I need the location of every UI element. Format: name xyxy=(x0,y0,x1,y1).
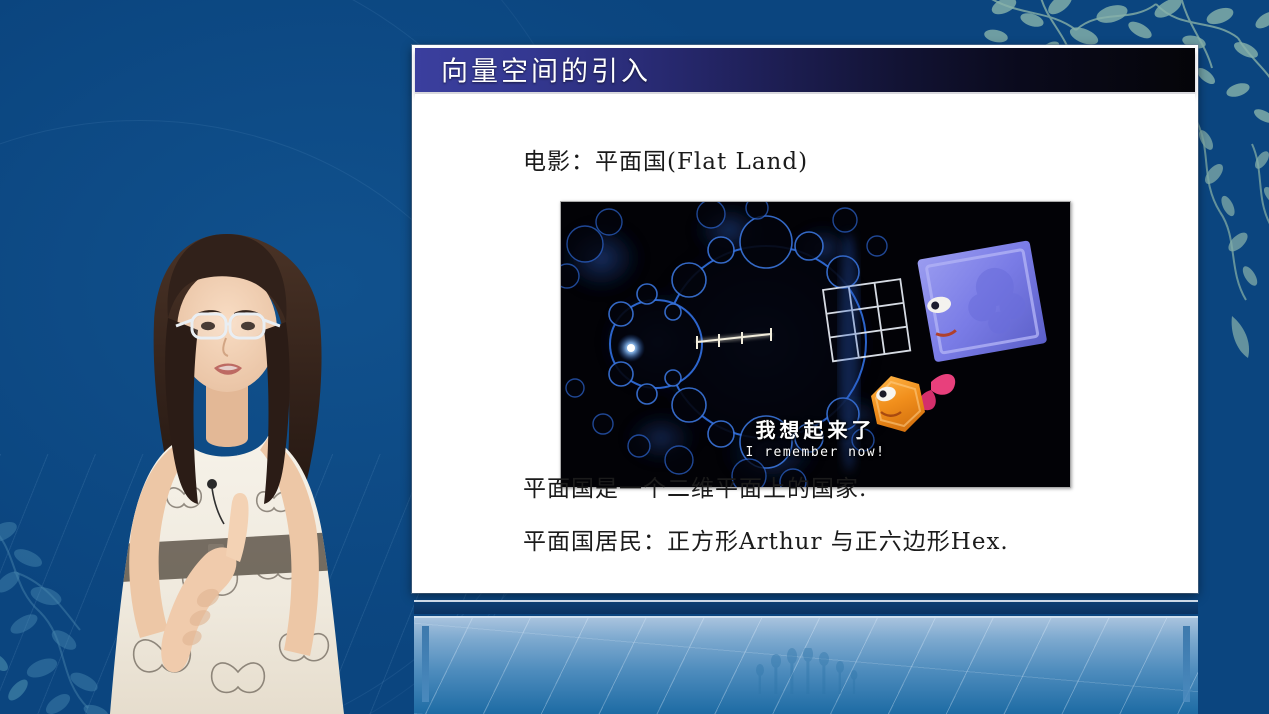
slide-body: 电影：平面国(Flat Land) xyxy=(415,94,1195,588)
slide-text-description-1: 平面国是一个二维平面上的国家. xyxy=(523,469,867,503)
panel-right-accent-bar xyxy=(1183,626,1190,702)
panel-left-accent-bar xyxy=(422,626,429,702)
video-subtitle-chinese: 我想起来了 xyxy=(561,414,1070,443)
slide-presentation-screen: 向量空间的引入 电影：平面国(Flat Land) xyxy=(0,0,1269,714)
lower-panel-strip xyxy=(414,600,1198,614)
slide-text-movie: 电影：平面国(Flat Land) xyxy=(523,142,808,176)
point-land-dot xyxy=(617,334,645,362)
slide-title-bar: 向量空间的引入 xyxy=(415,48,1195,94)
lower-decorative-panel xyxy=(414,616,1198,714)
embedded-video-player[interactable]: 我想起来了 I remember now! xyxy=(560,201,1071,488)
slide-text-description-2: 平面国居民：正方形Arthur 与正六边形Hex. xyxy=(523,522,1009,556)
panel-reed-decoration xyxy=(746,648,866,694)
slide-title: 向量空间的引入 xyxy=(441,50,651,89)
video-subtitle-english: I remember now! xyxy=(561,445,1070,460)
lecture-slide: 向量空间的引入 电影：平面国(Flat Land) xyxy=(412,45,1198,593)
presenter-video-overlay xyxy=(88,226,366,714)
square-character-arthur xyxy=(917,240,1047,362)
